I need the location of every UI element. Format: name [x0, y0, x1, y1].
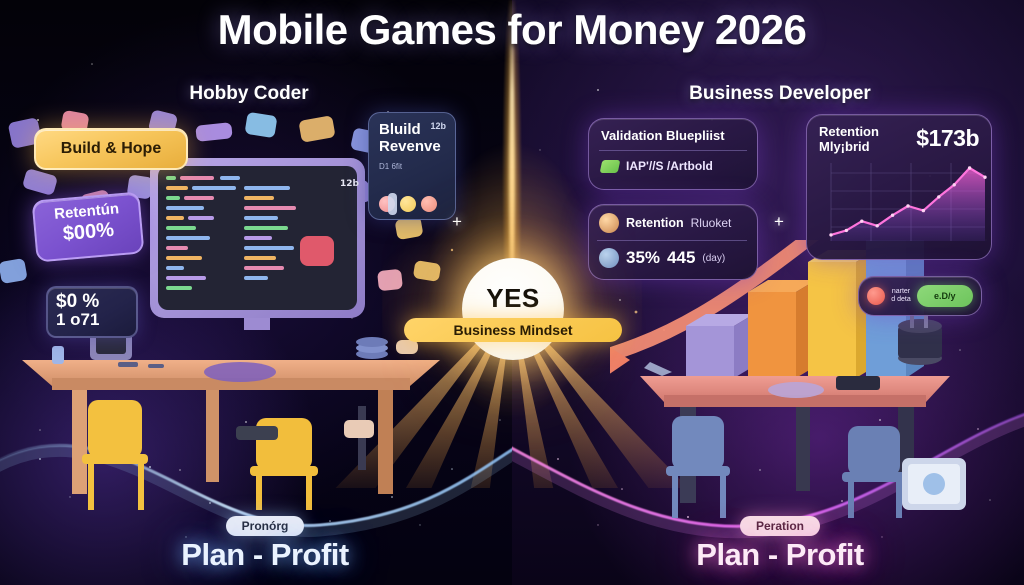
left-section-heading: Hobby Coder: [134, 83, 364, 105]
retention-chart-card[interactable]: Retention Mly¡brid $173b: [806, 114, 992, 260]
zero-revenue-card[interactable]: $0 % 1 o71: [46, 286, 138, 338]
build-revenue-tokens: [379, 193, 397, 215]
zero-revenue-line1: $0 %: [56, 292, 136, 311]
retention-unit: (day): [702, 253, 725, 264]
validation-blueprint-subtitle: IAP'//S /Artbold: [626, 159, 713, 173]
center-strapline-label: Business Mindset: [453, 322, 572, 338]
center-yes-badge: YES =: [462, 258, 564, 360]
right-footer-chip: Peration: [740, 516, 820, 536]
iap-icon: [600, 160, 621, 173]
retention-rocket-title: Retention: [626, 216, 684, 230]
status-tiny-text: narter d deta: [891, 288, 910, 303]
center-strapline: Business Mindset: [404, 318, 622, 342]
left-footer-headline: Plan - Profit: [135, 537, 395, 573]
build-revenue-badge: 12b: [430, 121, 446, 131]
build-revenue-line2: Revenve: [379, 138, 447, 155]
chart-card-line1: Retention: [819, 125, 879, 140]
build-and-hope-badge[interactable]: Build & Hope: [34, 128, 188, 170]
avatar-icon: [599, 213, 619, 233]
card-divider: [599, 150, 747, 151]
page-title: Mobile Games for Money 2026: [0, 6, 1024, 54]
infographic-canvas: Mobile Games for Money 2026 Hobby Coder …: [0, 0, 1024, 585]
sparkle-icon-left: +: [452, 212, 462, 232]
sparkle-icon-right: +: [774, 212, 784, 232]
left-footer: Pronórg Plan - Profit: [135, 516, 395, 573]
svg-text:12b: 12b: [340, 179, 360, 189]
retention-rocket-subtitle: Rluoket: [691, 216, 732, 230]
card-divider: [597, 240, 747, 241]
build-revenue-card[interactable]: 12b Bluild Revenve D1 6fit: [368, 112, 456, 220]
validation-blueprint-title: Validation Bluepliist: [601, 128, 745, 143]
center-yes-text: YES: [486, 285, 540, 311]
build-and-hope-label: Build & Hope: [61, 140, 161, 158]
status-green-label: e.D/y: [934, 291, 956, 301]
status-dot-icon: [867, 287, 885, 305]
right-footer: Peration Plan - Profit: [640, 516, 920, 573]
retention-purple-card[interactable]: Retentún $00%: [32, 191, 145, 262]
status-mini-card[interactable]: narter d deta e.D/y: [858, 276, 982, 316]
right-footer-headline: Plan - Profit: [640, 537, 920, 573]
validation-blueprint-card[interactable]: Validation Bluepliist IAP'//S /Artbold: [588, 118, 758, 190]
avatar-icon: [599, 248, 619, 268]
retention-rocket-card[interactable]: Retention Rluoket 35% 445 (day): [588, 204, 758, 280]
status-green-pill[interactable]: e.D/y: [917, 285, 973, 307]
build-revenue-sub: D1 6fit: [379, 162, 447, 171]
chart-card-value: $173b: [916, 125, 979, 152]
left-footer-chip: Pronórg: [226, 516, 305, 536]
retention-value: 35%: [626, 248, 660, 268]
growth-line-chart: [819, 159, 987, 247]
right-section-heading: Business Developer: [664, 83, 896, 105]
zero-revenue-line2: 1 o71: [56, 311, 136, 329]
retention-value-secondary: 445: [667, 248, 695, 268]
chart-card-line2: Mly¡brid: [819, 140, 879, 155]
